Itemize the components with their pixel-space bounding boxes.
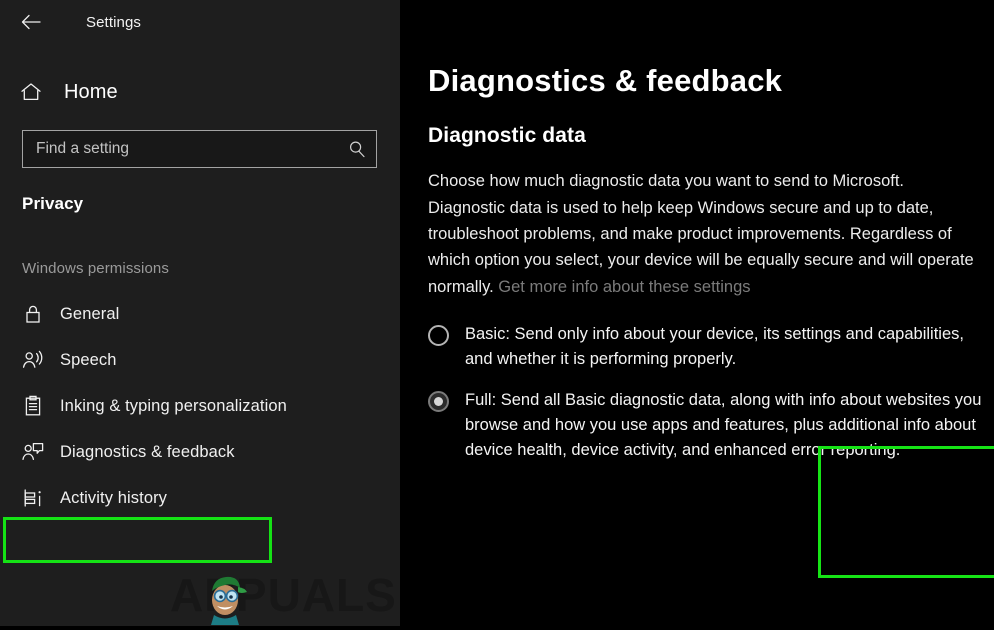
description-text: Choose how much diagnostic data you want…	[428, 168, 980, 300]
svg-text:APPUALS: APPUALS	[170, 569, 397, 621]
search-icon[interactable]	[348, 140, 366, 158]
feedback-person-icon	[18, 441, 48, 463]
page-title: Diagnostics & feedback	[428, 64, 994, 98]
lock-icon	[18, 303, 48, 325]
back-arrow-icon	[20, 13, 42, 31]
radio-basic[interactable]	[428, 325, 449, 346]
search-input[interactable]	[23, 131, 376, 167]
settings-window: Settings Home Privacy Windows permission…	[0, 0, 994, 626]
option-basic-label: Basic: Send only info about your device,…	[465, 322, 975, 372]
sidebar-item-inking-typing-personalization[interactable]: Inking & typing personalization	[0, 383, 400, 429]
content-pane: Diagnostics & feedback Diagnostic data C…	[400, 0, 994, 626]
timeline-icon	[18, 487, 48, 509]
window-title: Settings	[86, 14, 141, 31]
option-full[interactable]: Full: Send all Basic diagnostic data, al…	[400, 388, 994, 463]
sidebar-nav: General Speech	[0, 291, 400, 521]
radio-full-dot	[434, 397, 443, 406]
sidebar-item-home[interactable]: Home	[0, 72, 400, 112]
highlight-box-diagnostics-nav	[3, 517, 272, 563]
section-heading: Diagnostic data	[428, 124, 994, 148]
speech-person-icon	[18, 349, 48, 371]
sidebar-item-general[interactable]: General	[0, 291, 400, 337]
highlight-box-full-option	[818, 446, 994, 578]
sidebar-item-label: General	[60, 305, 119, 324]
sidebar-item-label: Speech	[60, 351, 117, 370]
title-bar: Settings	[0, 0, 400, 44]
radio-full[interactable]	[428, 391, 449, 412]
back-button[interactable]	[20, 8, 52, 36]
appuals-watermark: APPUALS	[170, 569, 400, 625]
sidebar-item-diagnostics-feedback[interactable]: Diagnostics & feedback	[0, 429, 400, 475]
more-info-link[interactable]: Get more info about these settings	[498, 278, 750, 296]
option-full-label: Full: Send all Basic diagnostic data, al…	[465, 388, 993, 463]
sidebar-item-label: Activity history	[60, 489, 167, 508]
sidebar-item-speech[interactable]: Speech	[0, 337, 400, 383]
option-basic[interactable]: Basic: Send only info about your device,…	[400, 322, 994, 372]
home-icon	[20, 82, 48, 102]
home-label: Home	[64, 81, 118, 104]
sidebar-item-label: Inking & typing personalization	[60, 397, 287, 416]
sidebar-item-activity-history[interactable]: Activity history	[0, 475, 400, 521]
diagnostic-data-options: Basic: Send only info about your device,…	[400, 322, 994, 463]
sidebar-section-title: Privacy	[22, 194, 400, 214]
search-box[interactable]	[22, 130, 377, 168]
sidebar: Settings Home Privacy Windows permission…	[0, 0, 400, 626]
clipboard-icon	[18, 395, 48, 418]
sidebar-group-title: Windows permissions	[22, 260, 400, 277]
sidebar-item-label: Diagnostics & feedback	[60, 443, 235, 462]
